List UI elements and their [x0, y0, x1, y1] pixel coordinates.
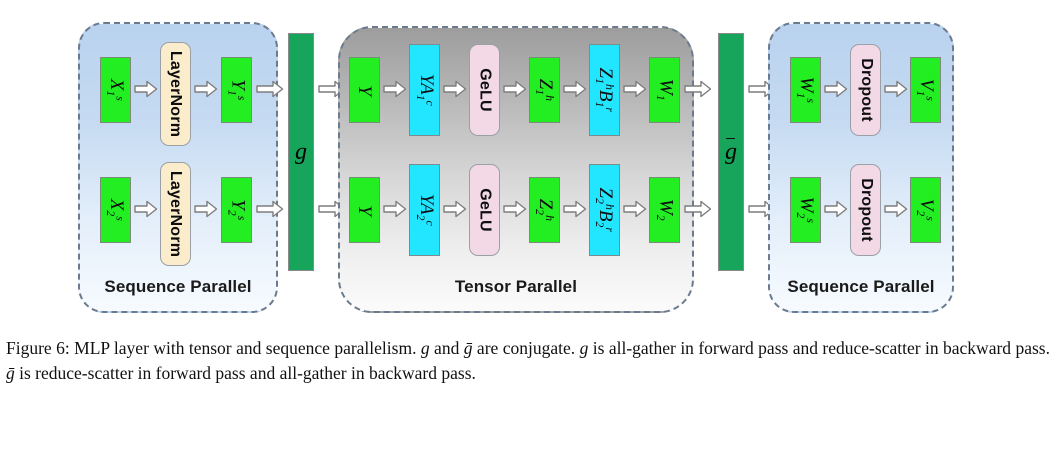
node-gelu-2: GeLU — [469, 164, 500, 256]
arrow-w2s-to-dropout2 — [824, 200, 848, 218]
node-label-y-row1: Y — [355, 85, 374, 96]
arrow-z1hb1r-to-w1 — [623, 80, 647, 98]
figure-diagram: Sequence Parallel X1s LayerNorm Y1s X2s … — [0, 0, 1056, 330]
node-y-row1: Y — [349, 57, 380, 123]
node-w2: W2 — [649, 177, 680, 243]
node-label-v1s: V1s — [915, 79, 937, 101]
panel-tensor-parallel: Tensor Parallel — [338, 26, 694, 313]
node-label-dropout-2: Dropout — [858, 178, 874, 242]
arrow-z2h-to-z2hb2r — [563, 200, 587, 218]
node-label-gelu-2: GeLU — [477, 188, 493, 231]
arrow-x1s-to-layernorm1 — [134, 80, 158, 98]
node-label-w1: W1 — [654, 79, 676, 101]
node-layernorm-1: LayerNorm — [160, 42, 191, 146]
arrow-z1h-to-z1hb1r — [563, 80, 587, 98]
node-w1s: W1s — [790, 57, 821, 123]
caption-text-3: are conjugate. — [473, 338, 580, 358]
caption-text-1: MLP layer with tensor and sequence paral… — [70, 338, 421, 358]
node-ya2c: YA2c — [409, 164, 440, 256]
arrow-y2s-to-g — [256, 200, 284, 218]
arrow-y-to-ya2c — [383, 200, 407, 218]
arrow-y1s-to-g — [256, 80, 284, 98]
node-label-w2: W2 — [654, 199, 676, 221]
caption-text-4: is all-gather in forward pass and reduce… — [588, 338, 1050, 358]
node-label-y-row2: Y — [355, 205, 374, 216]
node-z2hb2r: Z2hB2r — [589, 164, 620, 256]
arrow-layernorm2-to-y2s — [194, 200, 218, 218]
node-v2s: V2s — [910, 177, 941, 243]
node-label-gelu-1: GeLU — [477, 68, 493, 111]
node-label-x1s: X1s — [105, 79, 127, 101]
arrow-x2s-to-layernorm2 — [134, 200, 158, 218]
panel-label-sequence-parallel-right: Sequence Parallel — [770, 277, 952, 297]
caption-text-5: is reduce-scatter in forward pass and al… — [15, 363, 476, 383]
arrow-gelu2-to-z2h — [503, 200, 527, 218]
node-label-dropout-1: Dropout — [858, 58, 874, 122]
caption-figure-number: Figure 6: — [6, 338, 70, 358]
node-dropout-2: Dropout — [850, 164, 881, 256]
arrow-dropout2-to-v2s — [884, 200, 908, 218]
node-y2s: Y2s — [221, 177, 252, 243]
arrow-w2-to-gbar — [684, 200, 712, 218]
comm-bar-g-bar: g — [718, 33, 744, 271]
caption-text-2: and — [430, 338, 464, 358]
node-label-y1s: Y1s — [226, 79, 248, 100]
node-z2h: Z2h — [529, 177, 560, 243]
node-w1: W1 — [649, 57, 680, 123]
node-z1h: Z1h — [529, 57, 560, 123]
node-y-row2: Y — [349, 177, 380, 243]
node-label-x2s: X2s — [105, 199, 127, 221]
node-label-w1s: W1s — [795, 77, 817, 103]
node-x1s: X1s — [100, 57, 131, 123]
node-label-ya2c: YA2c — [414, 194, 436, 226]
node-label-ya1c: YA1c — [414, 74, 436, 106]
comm-bar-g: g — [288, 33, 314, 271]
caption-symbol-gbar-2: ḡ — [6, 363, 15, 383]
comm-bar-g-bar-label: g — [725, 139, 737, 166]
node-label-z2hb2r: Z2hB2r — [594, 188, 616, 232]
arrow-y-to-ya1c — [383, 80, 407, 98]
comm-bar-g-label: g — [295, 139, 307, 166]
arrow-ya2c-to-gelu2 — [443, 200, 467, 218]
arrow-gelu1-to-z1h — [503, 80, 527, 98]
arrow-ya1c-to-gelu1 — [443, 80, 467, 98]
arrow-z2hb2r-to-w2 — [623, 200, 647, 218]
node-label-z2h: Z2h — [534, 199, 556, 221]
node-label-z1hb1r: Z1hB1r — [594, 68, 616, 112]
node-label-layernorm-1: LayerNorm — [168, 51, 184, 137]
node-label-layernorm-2: LayerNorm — [168, 171, 184, 257]
panel-label-sequence-parallel-left: Sequence Parallel — [80, 277, 276, 297]
node-dropout-1: Dropout — [850, 44, 881, 136]
figure-caption: Figure 6: MLP layer with tensor and sequ… — [6, 336, 1050, 386]
node-label-z1h: Z1h — [534, 79, 556, 101]
node-label-w2s: W2s — [795, 197, 817, 223]
node-label-y2s: Y2s — [226, 199, 248, 220]
node-v1s: V1s — [910, 57, 941, 123]
arrow-layernorm1-to-y1s — [194, 80, 218, 98]
arrow-dropout1-to-v1s — [884, 80, 908, 98]
arrow-w1s-to-dropout1 — [824, 80, 848, 98]
caption-symbol-g-2: g — [580, 338, 589, 358]
arrow-w1-to-gbar — [684, 80, 712, 98]
panel-label-tensor-parallel: Tensor Parallel — [340, 277, 692, 297]
node-ya1c: YA1c — [409, 44, 440, 136]
node-label-v2s: V2s — [915, 199, 937, 221]
node-z1hb1r: Z1hB1r — [589, 44, 620, 136]
caption-symbol-gbar-1: ḡ — [464, 338, 473, 358]
node-layernorm-2: LayerNorm — [160, 162, 191, 266]
node-w2s: W2s — [790, 177, 821, 243]
caption-symbol-g-1: g — [421, 338, 430, 358]
node-x2s: X2s — [100, 177, 131, 243]
node-y1s: Y1s — [221, 57, 252, 123]
node-gelu-1: GeLU — [469, 44, 500, 136]
